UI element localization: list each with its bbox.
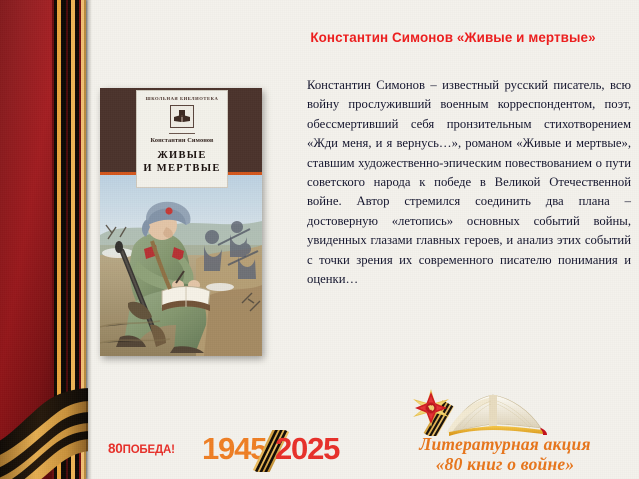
page-title: Константин Симонов «Живые и мертвые» [274, 30, 632, 45]
cover-title-line1: ЖИВЫЕ [143, 150, 220, 163]
cover-author: Константин Симонов [150, 137, 213, 144]
cover-artwork [100, 175, 262, 356]
victory-badge-text: 80ПОБЕДА! [108, 441, 175, 456]
anniversary-badge: 80ПОБЕДА! 1945 2025 [108, 432, 333, 476]
cover-title: ЖИВЫЕ И МЕРТВЫЕ [143, 150, 220, 175]
saint-george-ribbon-wave-icon [0, 367, 88, 479]
cover-label-panel: ШКОЛЬНАЯ БИБЛИОТЕКА Константин Симонов Ж… [136, 90, 228, 188]
victory-badge-word: ПОБЕДА! [123, 444, 175, 456]
action-title-line2: «80 книг о войне» [385, 454, 625, 475]
slide-canvas: ШКОЛЬНАЯ БИБЛИОТЕКА Константин Симонов Ж… [0, 0, 639, 479]
medal-and-book-graphic [393, 386, 565, 436]
year-to: 2025 [275, 431, 339, 467]
literary-action-block: Литературная акция «80 книг о войне» [385, 386, 625, 478]
action-title-line1: Литературная акция [385, 434, 625, 455]
book-cover-image: ШКОЛЬНАЯ БИБЛИОТЕКА Константин Симонов Ж… [100, 88, 262, 356]
open-book-emblem-icon [170, 105, 194, 128]
cover-divider [169, 133, 195, 134]
victory-badge-number: 80 [108, 441, 123, 456]
cover-series-label: ШКОЛЬНАЯ БИБЛИОТЕКА [146, 96, 219, 101]
body-paragraph: Константин Симонов – известный русский п… [307, 76, 631, 289]
left-decor-panel [0, 0, 88, 479]
panel-edge-shadow [86, 0, 92, 479]
cover-title-line2: И МЕРТВЫЕ [143, 163, 220, 176]
